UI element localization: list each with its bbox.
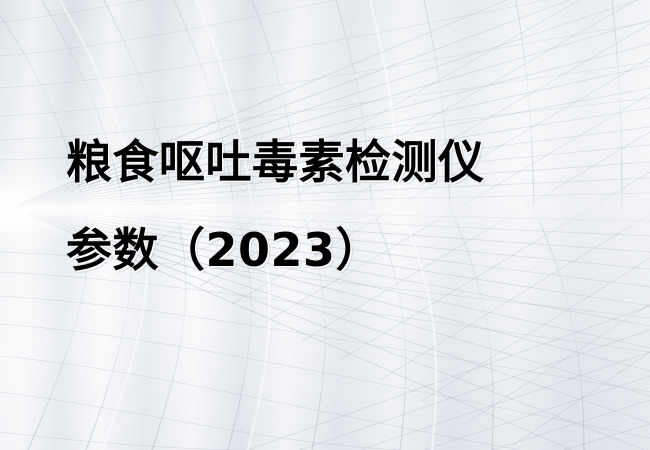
banner-title-block: 粮食呕吐毒素检测仪 参数（2023） — [66, 118, 626, 294]
banner-title-line-1: 粮食呕吐毒素检测仪 — [66, 118, 626, 206]
banner-image: 粮食呕吐毒素检测仪 参数（2023） — [0, 0, 650, 450]
banner-title-line-2: 参数（2023） — [66, 206, 626, 294]
